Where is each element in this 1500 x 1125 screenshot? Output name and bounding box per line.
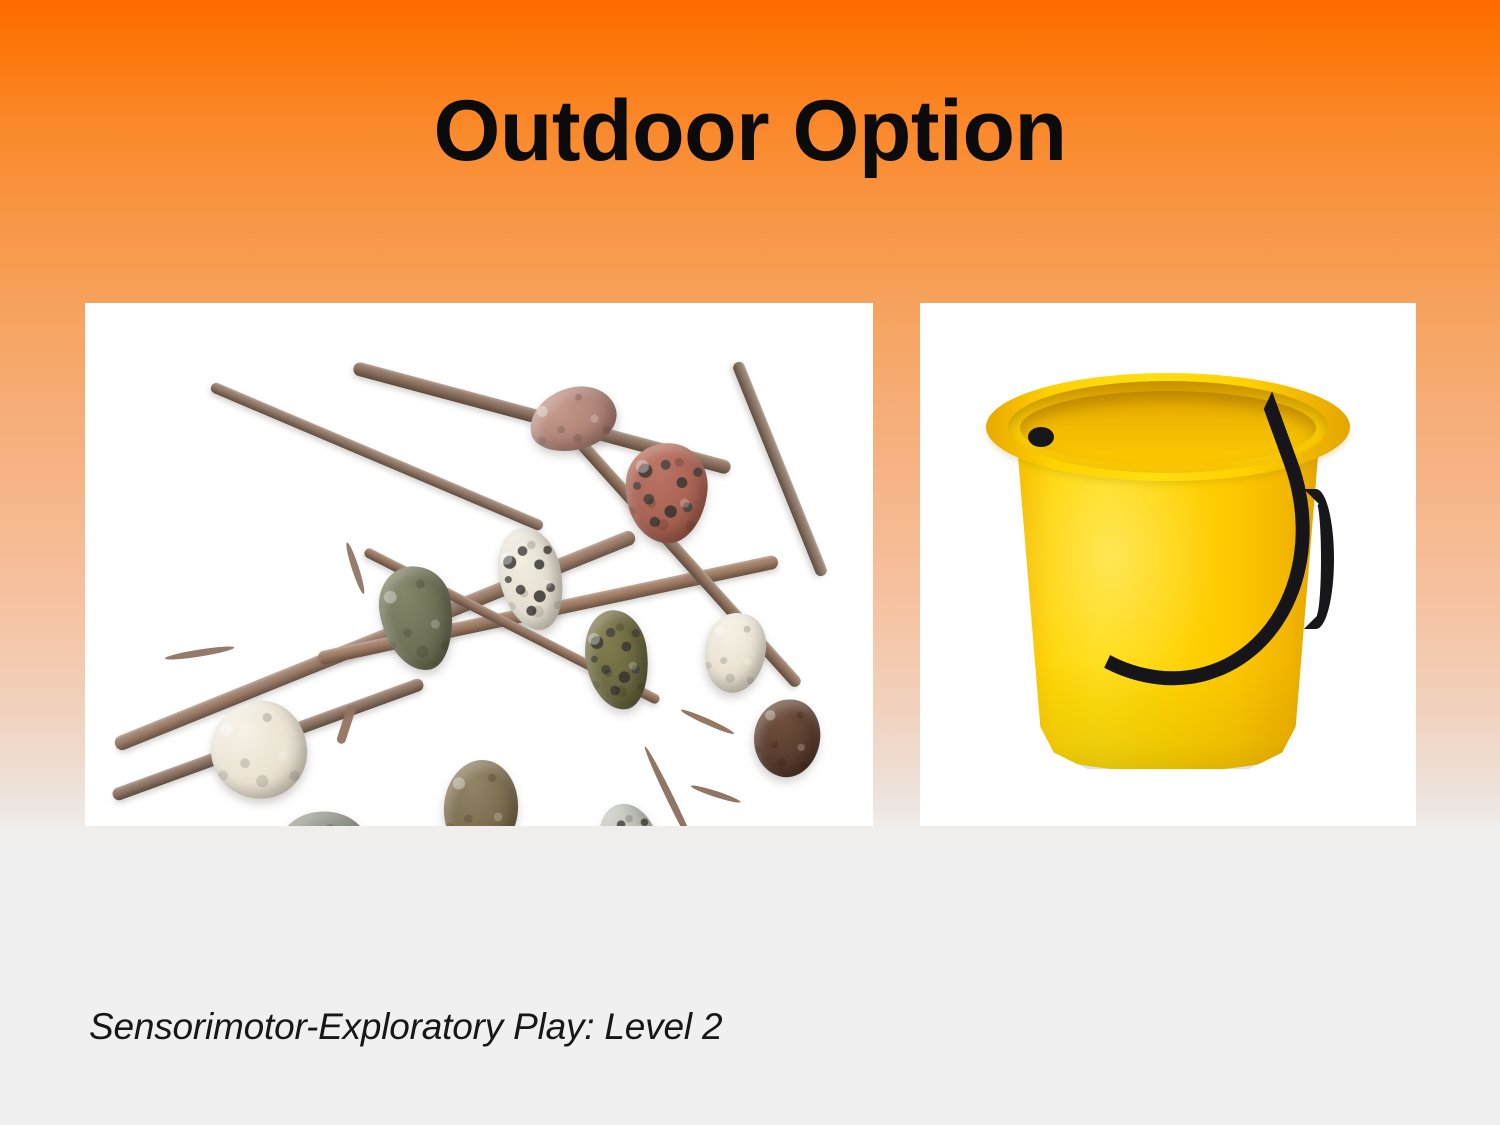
stick-1-branch (164, 644, 234, 662)
ivory-pebble (206, 696, 312, 803)
pink-granite-pebble (523, 378, 623, 459)
stick-7-branch (680, 707, 735, 736)
stick-6 (731, 360, 828, 578)
cream-flat-pebble (698, 608, 772, 698)
loose-twig-c (690, 783, 741, 805)
yellow-bucket-photo[interactable] (920, 303, 1416, 826)
stick-3-branch (344, 541, 367, 595)
bucket-handle-left-mount (1028, 427, 1054, 447)
bucket-artwork (968, 343, 1368, 788)
bucket-handle-right-mount (1304, 489, 1334, 629)
page-title: Outdoor Option (0, 88, 1500, 174)
khaki-round-pebble (441, 758, 522, 826)
dark-brown-pebble (747, 693, 828, 783)
sticks-and-stones-photo[interactable] (85, 303, 873, 826)
olive-teardrop-pebble (373, 561, 461, 676)
granite-speckled-pebble (590, 797, 670, 826)
slide: Outdoor Option (0, 0, 1500, 1125)
slide-footer: Sensorimotor-Exploratory Play: Level 2 (89, 1006, 722, 1048)
sticks-and-stones-artwork (85, 303, 873, 826)
sage-grey-pebble (272, 803, 381, 826)
